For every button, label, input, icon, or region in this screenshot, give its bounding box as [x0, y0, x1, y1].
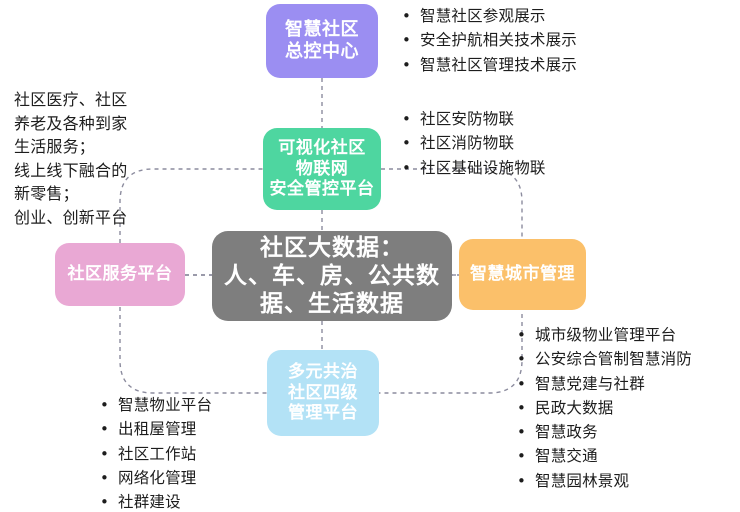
bullet-icon: • — [100, 443, 118, 466]
bullet-icon: • — [517, 470, 535, 493]
node-smart-community-control-center[interactable]: 智慧社区 总控中心 — [266, 4, 378, 78]
bullet-icon: • — [100, 418, 118, 441]
list-item-label: 社区基础设施物联 — [420, 156, 546, 180]
list-item-label: 智慧物业平台 — [118, 393, 212, 417]
node-four-level-governance-platform-label: 多元共治 社区四级 管理平台 — [288, 362, 358, 424]
list-item-label: 智慧园林景观 — [535, 469, 629, 493]
bullet-icon: • — [402, 54, 420, 77]
bullet-icon: • — [517, 324, 535, 347]
node-community-service-platform-label: 社区服务平台 — [68, 264, 173, 285]
node-community-service-platform[interactable]: 社区服务平台 — [55, 243, 185, 306]
list-item: • 智慧社区管理技术展示 — [402, 53, 577, 77]
list-item-label: 社区消防物联 — [420, 131, 514, 155]
list-item-label: 智慧社区管理技术展示 — [420, 53, 577, 77]
node-community-big-data-label: 社区大数据： 人、车、房、公共数 据、生活数据 — [224, 234, 440, 318]
bullet-icon: • — [402, 108, 420, 131]
list-item: • 智慧社区参观展示 — [402, 4, 577, 28]
node-community-big-data[interactable]: 社区大数据： 人、车、房、公共数 据、生活数据 — [212, 231, 452, 321]
list-item: • 出租屋管理 — [100, 417, 212, 441]
list-item-label: 安全护航相关技术展示 — [420, 28, 577, 52]
list-item: • 智慧党建与社群 — [517, 372, 692, 396]
list-item-label: 社区安防物联 — [420, 107, 514, 131]
bullet-icon: • — [402, 157, 420, 180]
list-item: • 社区基础设施物联 — [402, 156, 546, 180]
list-item-label: 智慧党建与社群 — [535, 372, 645, 396]
bullet-icon: • — [100, 491, 118, 512]
list-item-label: 民政大数据 — [535, 396, 614, 420]
list-item-label: 智慧交通 — [535, 444, 598, 468]
bullet-icon: • — [402, 132, 420, 155]
node-visual-community-iot-platform[interactable]: 可视化社区 物联网 安全管控平台 — [263, 128, 381, 210]
diagram-canvas: 社区大数据： 人、车、房、公共数 据、生活数据 智慧社区 总控中心 可视化社区 … — [0, 0, 740, 512]
list-item-label: 城市级物业管理平台 — [535, 323, 676, 347]
list-item: • 社区工作站 — [100, 442, 212, 466]
bullet-list-smart-city: • 城市级物业管理平台 • 公安综合管制智慧消防 • 智慧党建与社群 • 民政大… — [517, 323, 692, 493]
node-smart-city-management[interactable]: 智慧城市管理 — [459, 239, 586, 310]
list-item: • 智慧物业平台 — [100, 393, 212, 417]
list-item-label: 网络化管理 — [118, 466, 197, 490]
list-item: • 社区消防物联 — [402, 131, 546, 155]
bullet-icon: • — [517, 397, 535, 420]
list-item: • 智慧交通 — [517, 444, 692, 468]
list-item: • 公安综合管制智慧消防 — [517, 347, 692, 371]
bullet-icon: • — [100, 394, 118, 417]
list-item: • 社群建设 — [100, 490, 212, 512]
service-platform-note: 社区医疗、社区 养老及各种到家 生活服务； 线上线下融合的 新零售； 创业、创新… — [14, 88, 189, 229]
list-item-label: 社区工作站 — [118, 442, 197, 466]
bullet-icon: • — [402, 5, 420, 28]
bullet-icon: • — [100, 467, 118, 490]
node-smart-community-control-center-label: 智慧社区 总控中心 — [285, 19, 359, 63]
list-item-label: 出租屋管理 — [118, 417, 197, 441]
list-item-label: 智慧政务 — [535, 420, 598, 444]
node-smart-city-management-label: 智慧城市管理 — [470, 264, 575, 285]
list-item: • 智慧园林景观 — [517, 469, 692, 493]
bullet-icon: • — [517, 373, 535, 396]
list-item: • 网络化管理 — [100, 466, 212, 490]
list-item: • 社区安防物联 — [402, 107, 546, 131]
node-visual-community-iot-platform-label: 可视化社区 物联网 安全管控平台 — [270, 138, 375, 200]
bullet-icon: • — [402, 29, 420, 52]
bullet-icon: • — [517, 348, 535, 371]
list-item: • 民政大数据 — [517, 396, 692, 420]
list-item-label: 公安综合管制智慧消防 — [535, 347, 692, 371]
bullet-list-control-center: • 智慧社区参观展示 • 安全护航相关技术展示 • 智慧社区管理技术展示 — [402, 4, 577, 77]
bullet-icon: • — [517, 421, 535, 444]
list-item: • 安全护航相关技术展示 — [402, 28, 577, 52]
node-four-level-governance-platform[interactable]: 多元共治 社区四级 管理平台 — [267, 350, 379, 436]
list-item-label: 社群建设 — [118, 490, 181, 512]
list-item-label: 智慧社区参观展示 — [420, 4, 546, 28]
bullet-icon: • — [517, 445, 535, 468]
bullet-list-governance-platform: • 智慧物业平台 • 出租屋管理 • 社区工作站 • 网络化管理 • 社群建设 — [100, 393, 212, 512]
bullet-list-iot-platform: • 社区安防物联 • 社区消防物联 • 社区基础设施物联 — [402, 107, 546, 180]
list-item: • 智慧政务 — [517, 420, 692, 444]
list-item: • 城市级物业管理平台 — [517, 323, 692, 347]
